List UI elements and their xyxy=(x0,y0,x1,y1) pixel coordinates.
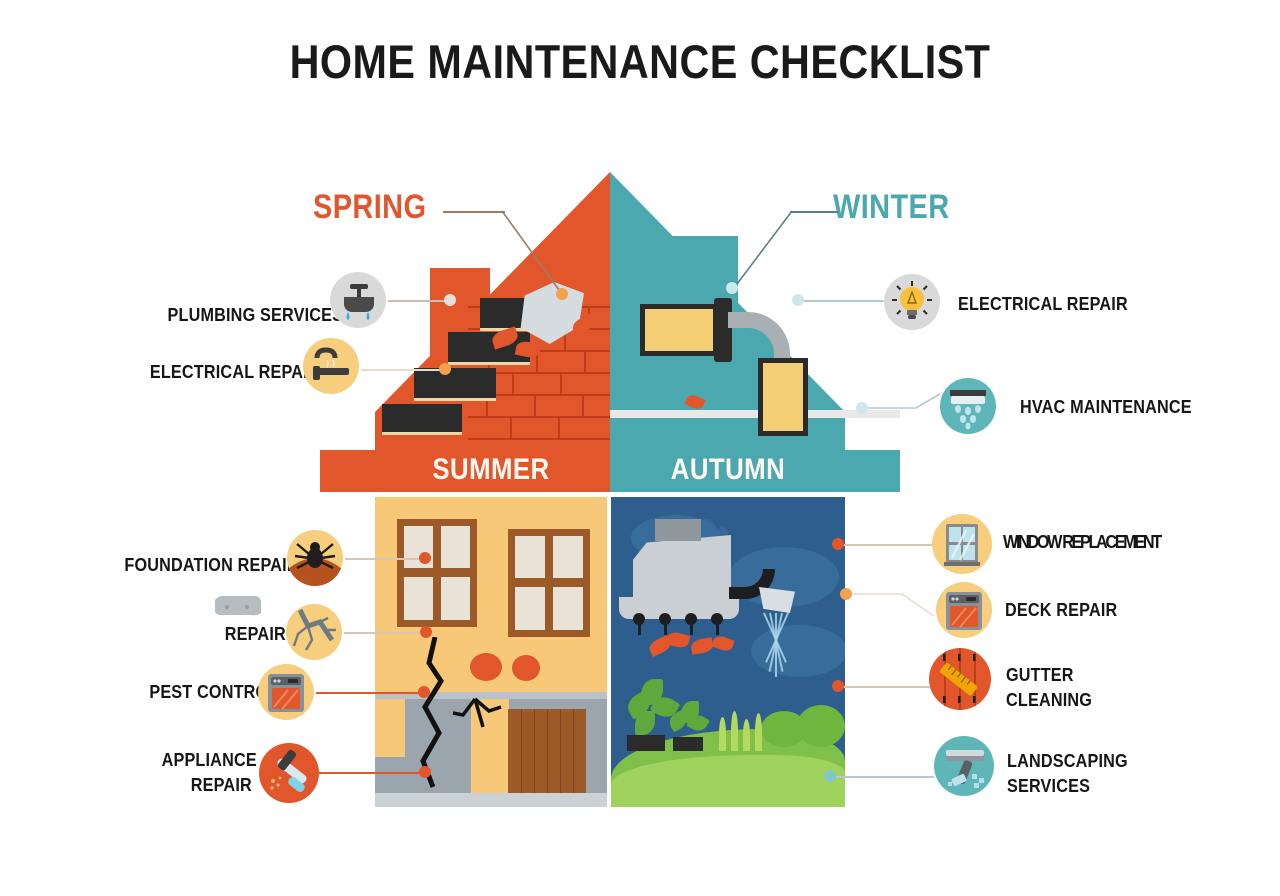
connector-dot xyxy=(418,686,430,698)
wire-iron-icon[interactable] xyxy=(303,338,359,394)
callout-label-line2: CLEANING xyxy=(1006,688,1092,713)
wall-crack-icon[interactable] xyxy=(286,604,342,660)
window-frame xyxy=(397,519,477,627)
connector-dot xyxy=(840,588,852,600)
banner-summer: SUMMER xyxy=(375,450,607,490)
faucet-icon[interactable] xyxy=(330,272,386,328)
connector-dot xyxy=(726,282,738,294)
sprayer-body-icon xyxy=(633,535,731,597)
connector-line xyxy=(345,558,423,560)
callout-label-line1: LANDSCAPING xyxy=(1007,749,1128,774)
connector-line-winter xyxy=(790,211,838,213)
connector-dot xyxy=(419,766,431,778)
connector-dot xyxy=(832,680,844,692)
sprinkler-head-icon[interactable] xyxy=(940,378,996,434)
callout-label: ELECTRICAL REPAIR xyxy=(958,292,1128,317)
concrete-block-icon xyxy=(213,594,263,616)
connector-line xyxy=(832,776,934,778)
connector-dot xyxy=(444,294,456,306)
oven-icon[interactable] xyxy=(936,582,992,638)
callout-label: HVAC MAINTENANCE xyxy=(1020,395,1192,420)
connector-dot xyxy=(856,402,868,414)
callout-label: DECK REPAIR xyxy=(1005,598,1117,623)
sprayer-top xyxy=(655,519,701,541)
air-filter-large-icon xyxy=(640,304,718,356)
quadrant-autumn-scene xyxy=(611,497,845,807)
connector-line xyxy=(316,692,422,694)
connector-line xyxy=(840,544,932,546)
connector-dot xyxy=(419,552,431,564)
season-banner: SUMMER AUTUMN xyxy=(375,450,845,490)
callout-label-line1: GUTTER xyxy=(1006,663,1074,688)
window-frame xyxy=(508,529,590,637)
connector-line xyxy=(840,686,930,688)
tools-icon[interactable] xyxy=(259,743,319,803)
connector-line xyxy=(344,632,424,634)
callout-label-line1: APPLIANCE xyxy=(162,748,257,773)
callout-label: PLUMBING SERVICES xyxy=(168,303,344,328)
planks-tape-icon[interactable] xyxy=(929,648,991,710)
season-label-autumn: AUTUMN xyxy=(627,453,828,487)
connector-line xyxy=(319,772,423,774)
callout-label-line2: REPAIR xyxy=(191,773,252,798)
callout-label-line2: SERVICES xyxy=(1007,774,1090,799)
connector-dot xyxy=(832,538,844,550)
roof-step xyxy=(382,404,462,435)
garage-door xyxy=(508,709,586,793)
quadrant-summer-facade xyxy=(375,497,607,807)
callout-label: FOUNDATION REPAIR xyxy=(124,553,298,578)
roof-step xyxy=(414,368,496,401)
connector-line xyxy=(862,388,944,412)
connector-line-spring-angled xyxy=(500,208,570,300)
connector-line xyxy=(800,300,884,302)
banner-autumn: AUTUMN xyxy=(611,450,845,490)
window-icon[interactable] xyxy=(932,514,992,574)
connector-dot xyxy=(420,626,432,638)
connector-line xyxy=(846,592,938,622)
season-label-summer: SUMMER xyxy=(391,453,591,487)
connector-dot xyxy=(439,363,451,375)
squeegee-icon[interactable] xyxy=(934,736,994,796)
callout-label: ELECTRICAL REPAIR xyxy=(150,360,320,385)
foundation-patch xyxy=(375,699,405,757)
callout-label: WINDOW REPLACEMENT xyxy=(1003,530,1160,555)
connector-dot xyxy=(792,294,804,306)
connector-dot xyxy=(824,770,836,782)
connector-line xyxy=(388,300,448,302)
connector-line xyxy=(361,369,443,371)
oven-icon[interactable] xyxy=(258,664,314,720)
house-illustration: SUMMER AUTUMN xyxy=(320,172,900,807)
air-filter-small-icon xyxy=(758,358,808,436)
crack-patch-icon xyxy=(512,655,540,681)
spider-icon[interactable] xyxy=(287,530,343,586)
callout-label: REPAIR xyxy=(225,622,286,647)
connector-line-spring xyxy=(443,211,505,213)
lightbulb-icon[interactable] xyxy=(884,274,940,330)
connector-line-winter-angled xyxy=(728,208,794,294)
connector-dot xyxy=(556,288,568,300)
page-title: HOME MAINTENANCE CHECKLIST xyxy=(77,34,1203,89)
